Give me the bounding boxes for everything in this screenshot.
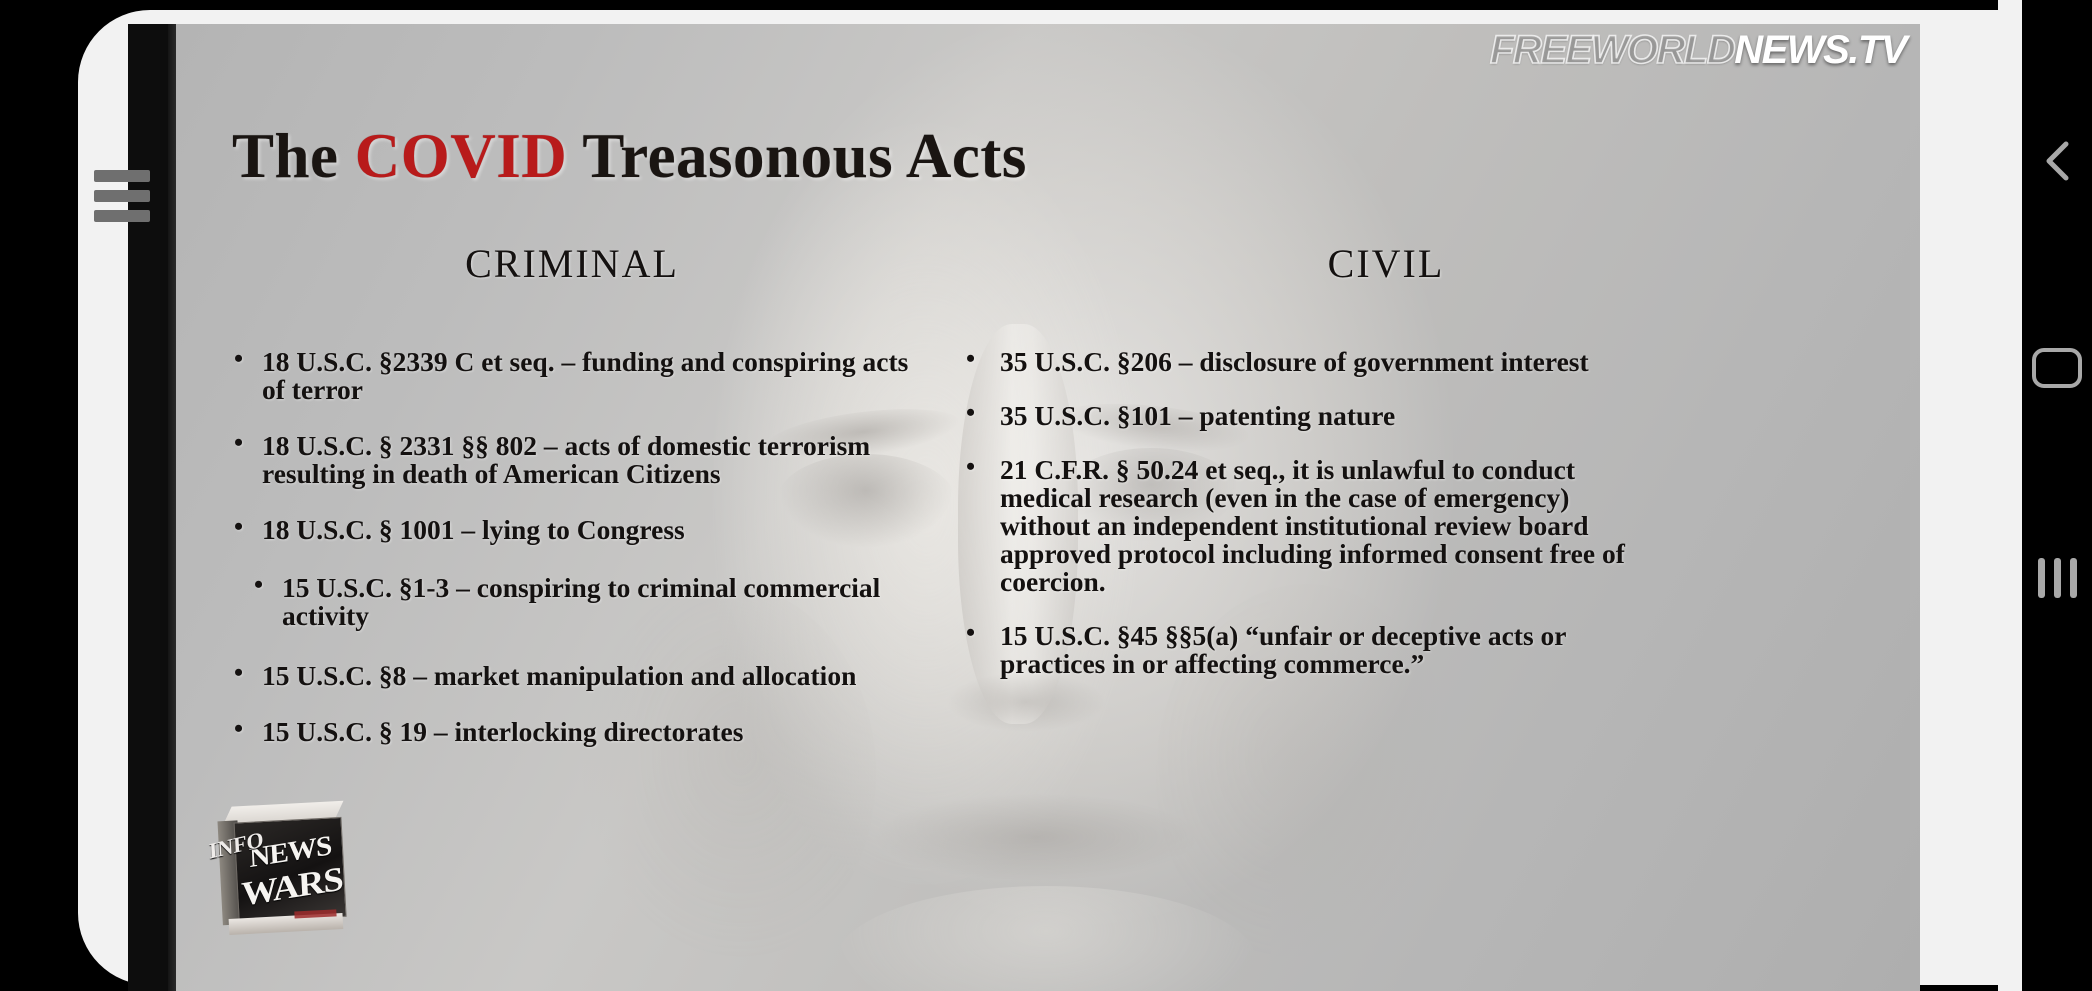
title-part-post: Treasonous Acts: [567, 121, 1027, 191]
phone-screen: FREEWORLDNEWS.TV The COVID Treasonous Ac…: [0, 0, 2092, 991]
column-civil: 35 U.S.C. §206 – disclosure of governmen…: [966, 310, 1646, 704]
home-button[interactable]: [2022, 335, 2092, 401]
left-letterbox-shade: [168, 24, 176, 991]
android-navigation-bar: [2022, 0, 2092, 991]
column-criminal: 18 U.S.C. §2339 C et seq. – funding and …: [232, 310, 932, 772]
chevron-left-icon: [2040, 138, 2074, 189]
recents-button[interactable]: [2022, 545, 2092, 611]
recents-bars-icon: [2038, 558, 2077, 598]
criminal-bullet-list: 18 U.S.C. §2339 C et seq. – funding and …: [232, 348, 932, 746]
slide-content: The COVID Treasonous Acts CRIMINAL CIVIL…: [176, 24, 1920, 991]
civil-bullet-list: 35 U.S.C. §206 – disclosure of governmen…: [966, 348, 1646, 678]
list-item: 15 U.S.C. §45 §§5(a) “unfair or deceptiv…: [966, 622, 1646, 678]
list-item: 15 U.S.C. §1-3 – conspiring to criminal …: [232, 574, 932, 630]
list-item: 15 U.S.C. §8 – market manipulation and a…: [232, 662, 932, 690]
video-surface[interactable]: FREEWORLDNEWS.TV The COVID Treasonous Ac…: [176, 24, 1920, 991]
list-item: 18 U.S.C. § 2331 §§ 802 – acts of domest…: [232, 432, 932, 488]
right-gutter: [1998, 0, 2022, 991]
list-item: 35 U.S.C. §101 – patenting nature: [966, 402, 1646, 430]
column-heading-civil: CIVIL: [1196, 240, 1576, 287]
title-part-covid: COVID: [355, 121, 568, 191]
list-item: 18 U.S.C. §2339 C et seq. – funding and …: [232, 348, 932, 404]
list-item: 35 U.S.C. §206 – disclosure of governmen…: [966, 348, 1646, 376]
title-part-pre: The: [232, 121, 355, 191]
hamburger-menu-icon[interactable]: [94, 170, 150, 222]
column-heading-criminal: CRIMINAL: [362, 240, 782, 287]
infowars-newswars-logo: NEWS WARS INFO: [217, 801, 352, 936]
list-item: 18 U.S.C. § 1001 – lying to Congress: [232, 516, 932, 544]
home-rounded-square-icon: [2032, 348, 2082, 388]
list-item: 21 C.F.R. § 50.24 et seq., it is unlawfu…: [966, 456, 1646, 596]
slide-title: The COVID Treasonous Acts: [232, 120, 1532, 193]
list-item: 15 U.S.C. § 19 – interlocking directorat…: [232, 718, 932, 746]
back-button[interactable]: [2022, 130, 2092, 196]
